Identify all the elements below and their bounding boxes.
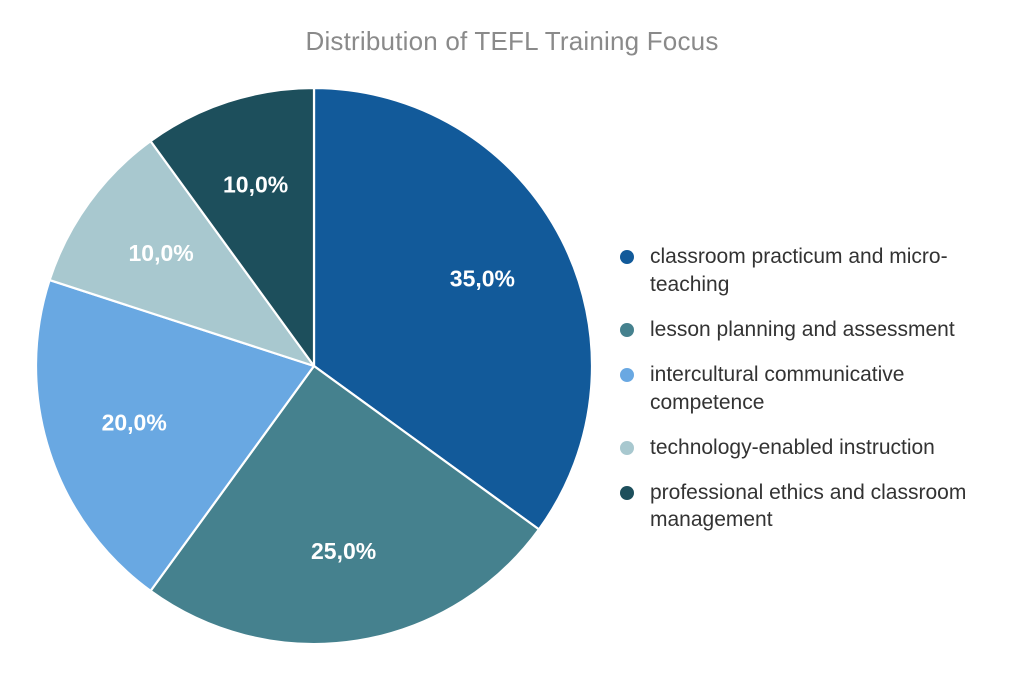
legend-item[interactable]: lesson planning and assessment (620, 316, 1012, 344)
pie-slice-label: 20,0% (102, 409, 167, 435)
legend-swatch-icon (620, 250, 634, 264)
pie-svg: 35,0%25,0%20,0%10,0%10,0% (0, 0, 640, 688)
legend-swatch-icon (620, 441, 634, 455)
legend-swatch-icon (620, 323, 634, 337)
pie-slice-label: 10,0% (128, 240, 193, 266)
legend-swatch-icon (620, 368, 634, 382)
legend-item[interactable]: classroom practicum and micro-teaching (620, 243, 1012, 299)
legend-swatch-icon (620, 486, 634, 500)
legend-item-label: technology-enabled instruction (650, 434, 935, 462)
legend-item-label: intercultural communicative competence (650, 361, 980, 417)
legend-item-label: classroom practicum and micro-teaching (650, 243, 980, 299)
legend-item-label: professional ethics and classroom manage… (650, 479, 980, 535)
legend-item[interactable]: intercultural communicative competence (620, 361, 1012, 417)
pie-slice-label: 25,0% (311, 538, 376, 564)
legend-item[interactable]: technology-enabled instruction (620, 434, 1012, 462)
legend-item[interactable]: professional ethics and classroom manage… (620, 479, 1012, 535)
pie-chart-figure: Distribution of TEFL Training Focus 35,0… (0, 0, 1024, 688)
pie-slice-label: 10,0% (223, 171, 288, 197)
legend: classroom practicum and micro-teachingle… (620, 243, 1012, 534)
pie-slice-label: 35,0% (450, 265, 515, 291)
legend-item-label: lesson planning and assessment (650, 316, 955, 344)
pie-plot-area: 35,0%25,0%20,0%10,0%10,0% (0, 0, 640, 688)
